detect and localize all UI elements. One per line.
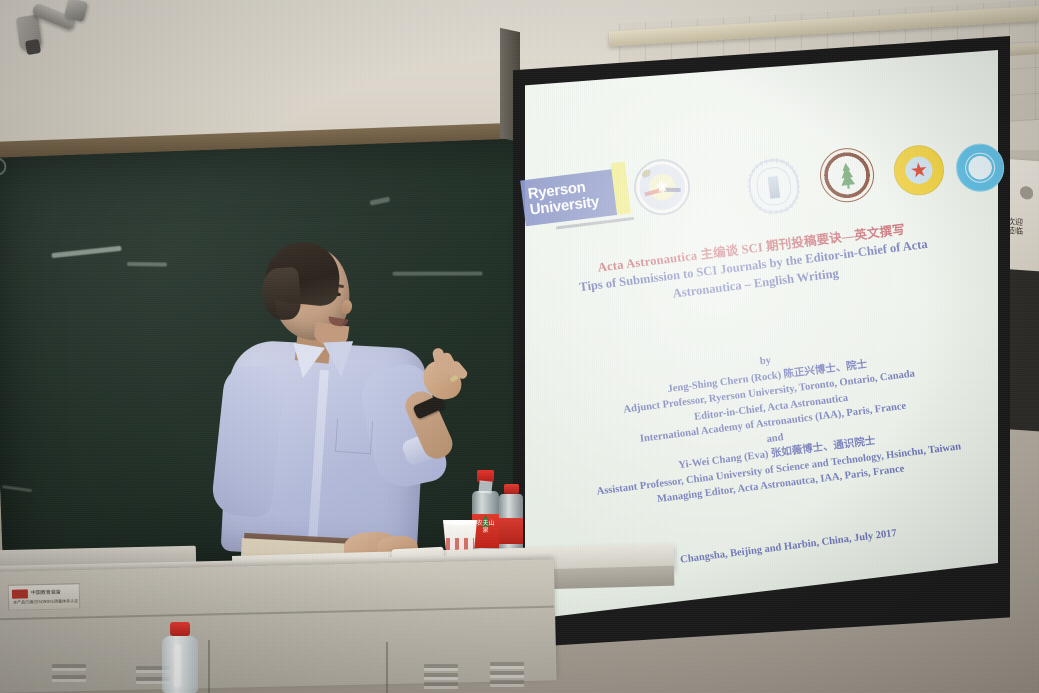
red-star-seal-4-icon	[891, 142, 947, 198]
seal-red-star-icon	[910, 161, 928, 179]
bottle-cap	[504, 484, 519, 494]
nameplate-text-line1: 中国教育装备	[31, 589, 61, 597]
nameplate-brand-icon	[12, 589, 28, 598]
ryerson-university-logo: Ryerson University	[520, 169, 617, 226]
cabinet-vent-slot	[52, 675, 86, 679]
shirt-pocket	[335, 419, 373, 454]
chalk-mark	[2, 485, 32, 492]
chalk-mark	[127, 262, 167, 267]
bottle-label	[499, 518, 523, 544]
lecture-hall-photo: 欢迎 莅临 Ryerson University	[0, 0, 1039, 693]
water-bottle-on-cabinet	[160, 622, 200, 693]
cabinet-vent-slot	[424, 673, 458, 677]
institute-seal-2-icon	[746, 156, 802, 216]
nameplate-text-line2: 本产品已通过ISO9001质量体系认证	[13, 598, 78, 605]
sign-graphic-icon	[1020, 186, 1033, 200]
cup-rim	[443, 520, 477, 525]
university-seal-1-icon	[631, 156, 693, 218]
seal-band-left	[644, 188, 660, 196]
cabinet-vent-slot	[52, 664, 86, 668]
bottle-label-text: 农夫山泉	[474, 520, 497, 534]
cabinet-door-divider	[208, 640, 210, 693]
seal-band-right	[664, 188, 680, 192]
chalk-mark	[370, 197, 391, 206]
podium-cabinet	[0, 559, 557, 693]
cabinet-vent-slot	[490, 662, 524, 666]
seal-inner-ring	[963, 151, 996, 184]
bottle-cap	[170, 622, 190, 636]
slide-author-block: by Jeng-Shing Chern (Rock) 陈正兴博士、院士 Adju…	[545, 326, 1001, 519]
speaker-nose	[341, 299, 353, 315]
wall-camera-bracket	[14, 0, 94, 56]
cabinet-vent-slot	[424, 682, 458, 686]
cabinet-door-divider	[386, 642, 388, 693]
chalk-mark	[51, 246, 121, 258]
green-tree-seal-3-icon	[817, 145, 877, 205]
seal-ring	[640, 168, 652, 180]
cabinet-vent-slot	[490, 680, 524, 684]
cabinet-vent-slot	[490, 671, 524, 675]
water-bottle-on-desk: 农夫山泉	[470, 470, 500, 560]
bottle-highlight	[174, 644, 181, 688]
speaker-hair-side	[260, 267, 302, 322]
chalk-mark	[0, 157, 7, 176]
bracket-lens-icon	[25, 39, 41, 55]
cabinet-nameplate: 中国教育装备 本产品已通过ISO9001质量体系认证	[8, 583, 81, 611]
seal-tree-icon	[837, 162, 858, 190]
cabinet-vent-slot	[424, 664, 458, 668]
